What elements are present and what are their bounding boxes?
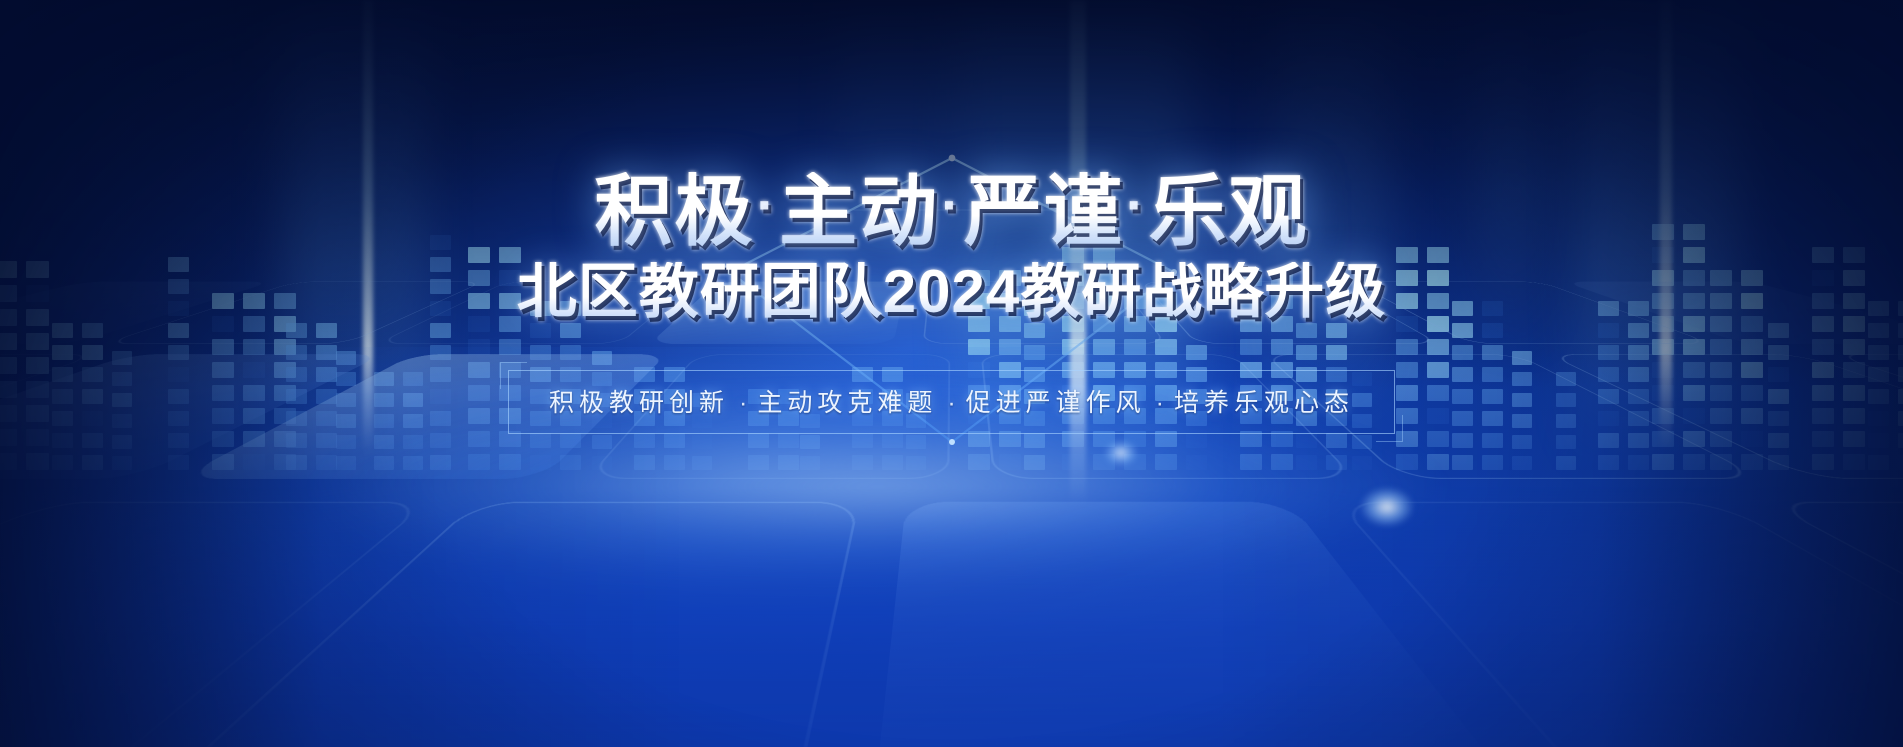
- tagline-text: 积极教研创新·主动攻克难题·促进严谨作风·培养乐观心态: [549, 383, 1354, 419]
- headline-word-3: 严谨: [964, 167, 1124, 255]
- headline-separator-3: ·: [1126, 173, 1147, 236]
- headline-separator-2: ·: [941, 173, 962, 236]
- tagline-separator-2: ·: [947, 389, 955, 417]
- headline-separator-1: ·: [757, 173, 778, 236]
- tagline-item-4: 培养乐观心态: [1174, 389, 1354, 417]
- headline-word-2: 主动: [779, 167, 939, 255]
- banner-content: 积极·主动·严谨·乐观 北区教研团队2024教研战略升级 积极教研创新·主动攻克…: [0, 0, 1903, 747]
- tagline-item-3: 促进严谨作风: [966, 389, 1146, 417]
- tagline-separator-1: ·: [739, 389, 747, 417]
- tagline-frame: 积极教研创新·主动攻克难题·促进严谨作风·培养乐观心态: [508, 370, 1395, 434]
- headline-word-4: 乐观: [1149, 167, 1309, 255]
- headline-word-1: 积极: [594, 167, 754, 255]
- page-title: 积极·主动·严谨·乐观: [594, 172, 1308, 250]
- tagline-item-1: 积极教研创新: [549, 389, 729, 417]
- tagline-separator-3: ·: [1156, 389, 1164, 417]
- promotional-banner: 积极·主动·严谨·乐观 北区教研团队2024教研战略升级 积极教研创新·主动攻克…: [0, 0, 1903, 747]
- page-subtitle: 北区教研团队2024教研战略升级: [517, 262, 1386, 322]
- tagline-item-2: 主动攻克难题: [757, 389, 937, 417]
